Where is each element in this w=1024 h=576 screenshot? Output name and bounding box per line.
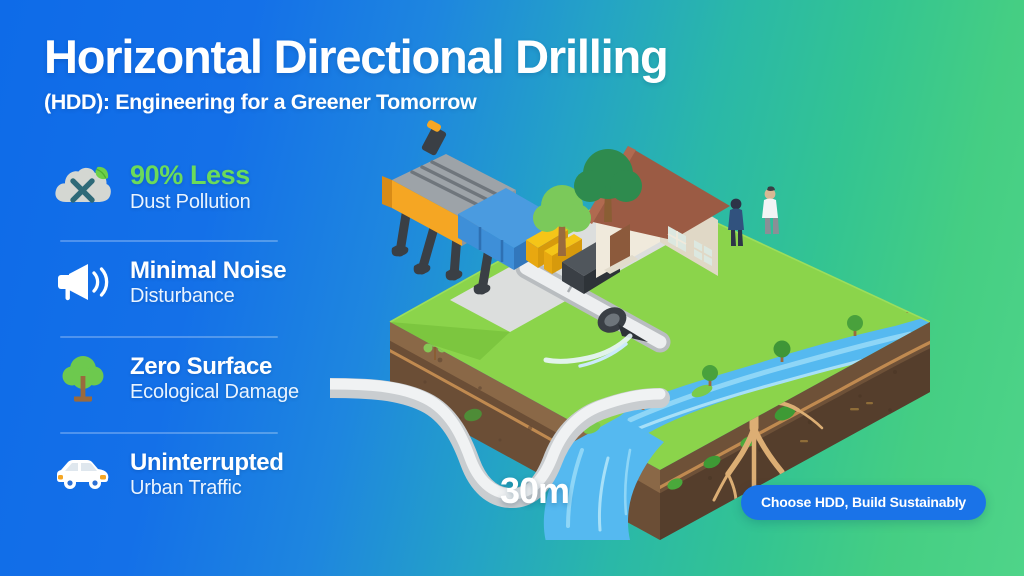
depth-label: 30m [500, 470, 569, 512]
feature-subline: Dust Pollution [130, 190, 251, 214]
person-walking-right [762, 186, 779, 234]
dust-cloud-leaf-icon [52, 158, 114, 214]
feature-divider [60, 432, 278, 434]
car-icon [52, 446, 114, 502]
feature-divider [60, 336, 278, 338]
feature-item-dust-pollution[interactable]: 90% Less Dust Pollution [52, 152, 352, 248]
page-title: Horizontal Directional Drilling [44, 32, 824, 81]
feature-text: 90% Less Dust Pollution [130, 158, 251, 214]
cta-button[interactable]: Choose HDD, Build Sustainably [741, 485, 986, 520]
feature-headline: 90% Less [130, 160, 251, 190]
feature-headline: Minimal Noise [130, 258, 286, 285]
feature-item-zero-surface-damage[interactable]: Zero Surface Ecological Damage [52, 344, 352, 440]
feature-item-minimal-noise[interactable]: Minimal Noise Disturbance [52, 248, 352, 344]
feature-text: Uninterrupted Urban Traffic [130, 448, 283, 501]
megaphone-icon [52, 254, 114, 310]
tree-icon [52, 350, 114, 406]
feature-list: 90% Less Dust Pollution [52, 152, 352, 536]
infographic-canvas: Horizontal Directional Drilling (HDD): E… [0, 0, 1024, 576]
feature-subline: Ecological Damage [130, 380, 299, 404]
feature-item-uninterrupted-traffic[interactable]: Uninterrupted Urban Traffic [52, 440, 352, 536]
header: Horizontal Directional Drilling (HDD): E… [44, 32, 824, 115]
feature-text: Zero Surface Ecological Damage [130, 352, 299, 405]
feature-divider [60, 240, 278, 242]
feature-headline: Uninterrupted [130, 450, 283, 477]
illustration-hdd-cross-section [330, 110, 930, 540]
feature-subline: Disturbance [130, 284, 286, 308]
feature-subline: Urban Traffic [130, 476, 283, 500]
feature-text: Minimal Noise Disturbance [130, 256, 286, 309]
feature-headline: Zero Surface [130, 354, 299, 381]
